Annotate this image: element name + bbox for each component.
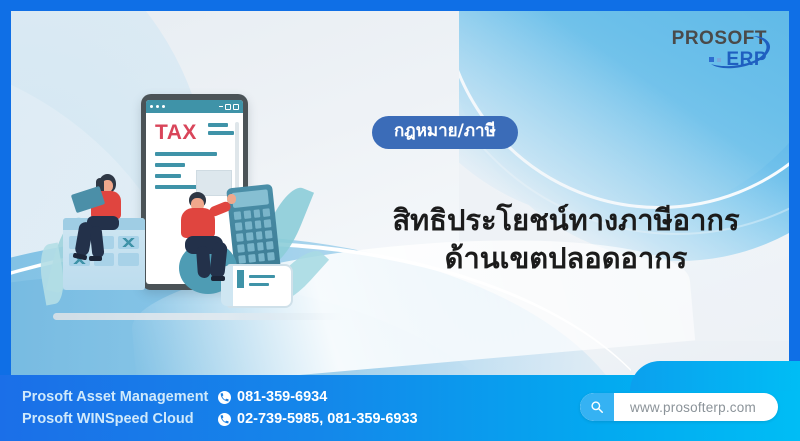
contact-product-name: Prosoft Asset Management xyxy=(22,386,218,408)
person-shoe xyxy=(211,276,225,281)
person-leg xyxy=(209,241,228,278)
phone-icon xyxy=(218,391,231,404)
promo-banner: PROSOFT ERP xyxy=(0,0,800,441)
window-dots-icon xyxy=(150,105,165,108)
book-line xyxy=(249,283,269,286)
doc-line xyxy=(155,174,181,178)
doc-line xyxy=(208,131,234,135)
website-search-box[interactable]: www.prosofterp.com xyxy=(580,393,778,421)
doc-header-lines xyxy=(208,123,234,135)
person-leg xyxy=(196,246,211,279)
doc-line xyxy=(155,152,217,156)
book-line xyxy=(249,275,275,278)
website-url-text[interactable]: www.prosofterp.com xyxy=(614,400,756,415)
search-icon[interactable] xyxy=(580,393,614,421)
contact-phone-number: 081-359-6934 xyxy=(237,386,327,408)
person-woman-with-laptop xyxy=(69,174,139,264)
contact-row: Prosoft WINSpeed Cloud 02-739-5985, 081-… xyxy=(22,408,418,430)
page-title: สิทธิประโยชน์ทางภาษีอากร ด้านเขตปลอดอากร xyxy=(356,201,776,278)
category-badge[interactable]: กฎหมาย/ภาษี xyxy=(372,116,518,149)
footer-corner-curve xyxy=(630,361,800,391)
contact-phone-number: 02-739-5985, 081-359-6933 xyxy=(237,408,418,430)
window-controls-icon xyxy=(219,104,239,110)
content-panel: PROSOFT ERP xyxy=(11,11,789,375)
doc-line xyxy=(208,123,228,127)
contact-list: Prosoft Asset Management 081-359-6934 Pr… xyxy=(22,386,418,431)
tax-illustration: TAX xyxy=(31,66,351,326)
logo: PROSOFT ERP xyxy=(672,29,767,69)
logo-swoosh-icon xyxy=(703,31,777,71)
headline-line-1: สิทธิประโยชน์ทางภาษีอากร xyxy=(392,203,739,237)
contact-phone[interactable]: 081-359-6934 xyxy=(218,386,327,408)
footer-bar: Prosoft Asset Management 081-359-6934 Pr… xyxy=(0,375,800,441)
contact-product-name: Prosoft WINSpeed Cloud xyxy=(22,408,218,430)
browser-title-bar xyxy=(146,100,243,113)
person-shoe xyxy=(89,256,102,261)
person-leg xyxy=(89,225,104,258)
person-man-on-ball xyxy=(171,192,251,292)
contact-phone[interactable]: 02-739-5985, 081-359-6933 xyxy=(218,408,418,430)
contact-row: Prosoft Asset Management 081-359-6934 xyxy=(22,386,418,408)
person-hand xyxy=(227,194,236,204)
doc-line xyxy=(155,163,185,167)
headline-line-2: ด้านเขตปลอดอากร xyxy=(356,239,776,277)
illustration-ground xyxy=(53,313,343,320)
phone-icon xyxy=(218,413,231,426)
